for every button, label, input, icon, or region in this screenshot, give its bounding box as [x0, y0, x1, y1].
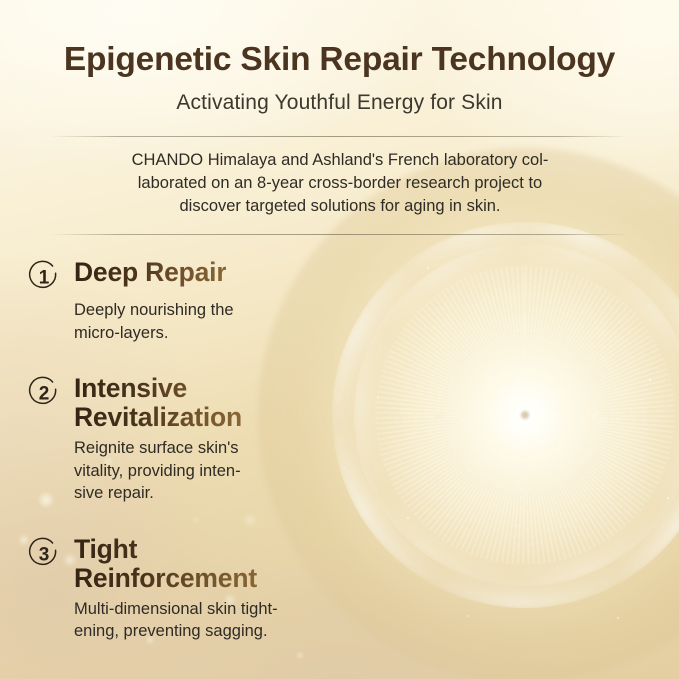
feature-title-line: Revitalization — [74, 402, 242, 432]
feature-title-line: Intensive — [74, 373, 187, 403]
feature-title: Deep Repair — [74, 258, 226, 287]
intro-paragraph: CHANDO Himalaya and Ashland's French lab… — [86, 149, 594, 218]
badge-number: 1 — [39, 268, 50, 289]
page-subtitle: Activating Youthful Energy for Skin — [0, 91, 679, 115]
feature-desc-line: Deeply nourishing the — [74, 299, 327, 322]
divider-bottom — [50, 234, 629, 235]
feature-desc-line: vitality, providing inten- — [74, 460, 327, 483]
intro-line: discover targeted solutions for aging in… — [86, 195, 594, 218]
feature-title-line: Deep Repair — [74, 257, 226, 287]
badge-number: 2 — [39, 384, 50, 405]
feature-item-tight-reinforcement: 3 Tight Reinforcement Multi-dimensional … — [27, 535, 327, 643]
feature-desc-line: sive repair. — [74, 482, 327, 505]
feature-title: Intensive Revitalization — [74, 374, 242, 432]
intro-line: laborated on an 8-year cross-border rese… — [86, 172, 594, 195]
feature-title: Tight Reinforcement — [74, 535, 257, 593]
divider-top — [50, 136, 629, 137]
feature-item-deep-repair: 1 Deep Repair Deeply nourishing the micr… — [27, 258, 327, 344]
badge-number: 3 — [39, 544, 50, 565]
number-badge-icon: 2 — [27, 376, 61, 410]
feature-desc-line: micro-layers. — [74, 322, 327, 345]
feature-description: Multi-dimensional skin tight- ening, pre… — [27, 598, 327, 643]
feature-desc-line: Multi-dimensional skin tight- — [74, 598, 327, 621]
feature-item-intensive-revitalization: 2 Intensive Revitalization Reignite surf… — [27, 374, 327, 505]
feature-title-line: Reinforcement — [74, 563, 257, 593]
content-layer: Epigenetic Skin Repair Technology Activa… — [0, 0, 679, 679]
feature-description: Reignite surface skin's vitality, provid… — [27, 437, 327, 505]
feature-desc-line: Reignite surface skin's — [74, 437, 327, 460]
feature-header: 1 Deep Repair — [27, 258, 327, 294]
feature-list: 1 Deep Repair Deeply nourishing the micr… — [27, 258, 327, 643]
promo-poster: Epigenetic Skin Repair Technology Activa… — [0, 0, 679, 679]
feature-description: Deeply nourishing the micro-layers. — [27, 299, 327, 344]
feature-desc-line: ening, preventing sagging. — [74, 620, 327, 643]
number-badge-icon: 3 — [27, 537, 61, 571]
feature-title-line: Tight — [74, 534, 137, 564]
number-badge-icon: 1 — [27, 260, 61, 294]
intro-line: CHANDO Himalaya and Ashland's French lab… — [86, 149, 594, 172]
page-title: Epigenetic Skin Repair Technology — [0, 41, 679, 79]
feature-header: 3 Tight Reinforcement — [27, 535, 327, 593]
feature-header: 2 Intensive Revitalization — [27, 374, 327, 432]
